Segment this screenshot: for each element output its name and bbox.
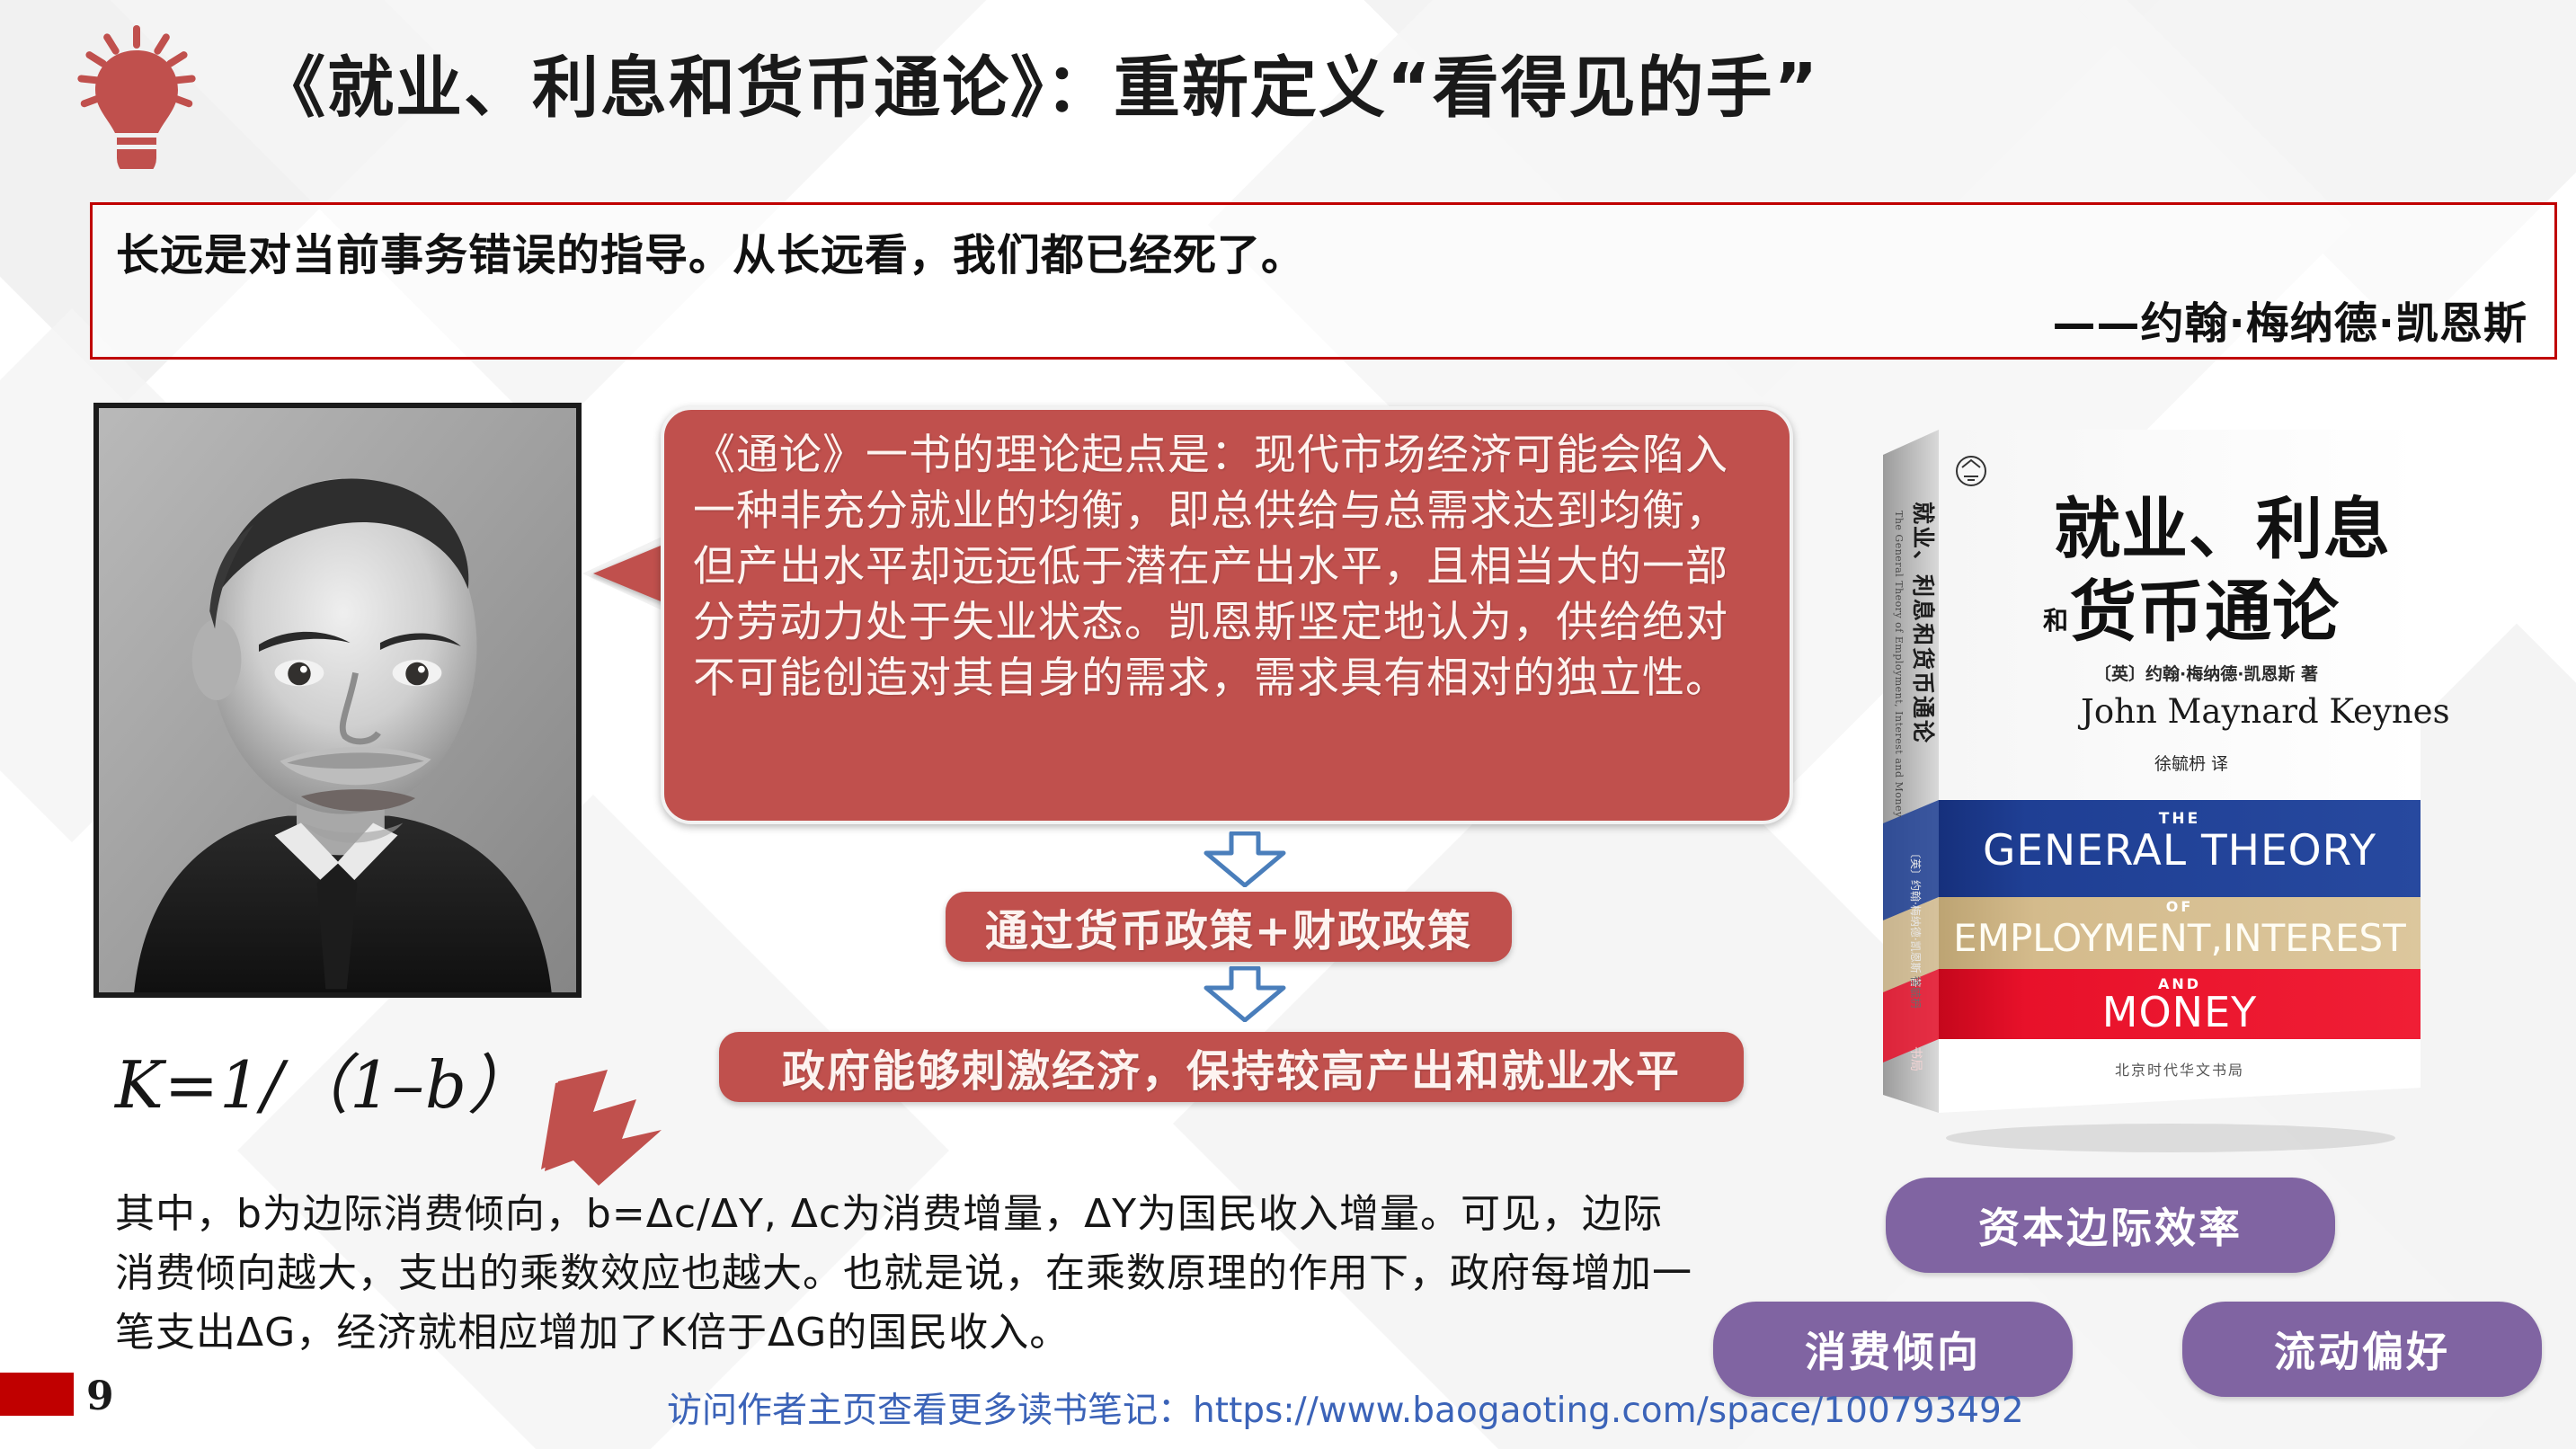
svg-text:EMPLOYMENT,INTEREST: EMPLOYMENT,INTEREST — [1953, 916, 2406, 960]
footer-accent-block — [0, 1373, 74, 1416]
svg-text:〔英〕约翰·梅纳德·凯恩斯 著: 〔英〕约翰·梅纳德·凯恩斯 著 — [1909, 848, 1923, 987]
theory-speech-bubble: 《通论》一书的理论起点是：现代市场经济可能会陷入一种非充分就业的均衡，即总供给与… — [661, 406, 1793, 824]
svg-text:THE: THE — [2159, 810, 2200, 828]
svg-text:John Maynard Keynes: John Maynard Keynes — [2077, 692, 2449, 731]
page-title: 《就业、利息和货币通论》：重新定义“看得见的手” — [259, 34, 1819, 130]
quote-text: 长远是对当前事务错误的指导。从长远看，我们都已经死了。 — [116, 219, 1305, 282]
svg-text:书局: 书局 — [1908, 1046, 1923, 1071]
svg-text:就业、利息和货币通论: 就业、利息和货币通论 — [1910, 502, 1936, 744]
lightbulb-icon — [56, 25, 218, 169]
svg-text:和: 和 — [2043, 606, 2068, 636]
concept-pill-capital-efficiency[interactable]: 资本边际效率 — [1886, 1178, 2335, 1273]
svg-text:OF: OF — [2166, 898, 2194, 915]
svg-text:The General Theory of Employme: The General Theory of Employment, Intere… — [1893, 511, 1905, 818]
down-arrow-icon-2 — [1197, 966, 1292, 1027]
bubble-text: 《通论》一书的理论起点是：现代市场经济可能会陷入一种非充分就业的均衡，即总供给与… — [693, 428, 1764, 707]
book-cover-image: 就业、利息和货币通论 The General Theory of Employm… — [1874, 394, 2449, 1158]
footer-link[interactable]: 访问作者主页查看更多读书笔记：https://www.baogaoting.co… — [667, 1382, 2024, 1433]
quote-box: 长远是对当前事务错误的指导。从长远看，我们都已经死了。 ——约翰·梅纳德·凯恩斯 — [90, 202, 2557, 360]
down-arrow-icon — [1197, 831, 1292, 892]
multiplier-formula: K=1/（1–b） — [115, 1032, 533, 1126]
svg-text:货币通论: 货币通论 — [2070, 573, 2340, 651]
slide-header: 《就业、利息和货币通论》：重新定义“看得见的手” — [0, 0, 2576, 180]
svg-text:就业、利息: 就业、利息 — [2054, 491, 2391, 568]
red-diagonal-arrow-icon — [529, 1065, 690, 1196]
explanation-paragraph: 其中，b为边际消费倾向，b=Δc/ΔY, Δc为消费增量，ΔY为国民收入增量。可… — [115, 1185, 1697, 1363]
svg-text:MONEY: MONEY — [2102, 988, 2257, 1036]
quote-attribution: ——约翰·梅纳德·凯恩斯 — [2053, 288, 2527, 351]
svg-text:GENERAL THEORY: GENERAL THEORY — [1983, 826, 2376, 876]
flow-step-2: 政府能够刺激经济，保持较高产出和就业水平 — [719, 1032, 1744, 1102]
page-number: 9 — [86, 1373, 114, 1419]
flow-step-1: 通过货币政策+财政政策 — [946, 892, 1512, 962]
keynes-portrait — [93, 403, 582, 998]
svg-text:〔英〕约翰·梅纳德·凯恩斯 著: 〔英〕约翰·梅纳德·凯恩斯 著 — [2094, 663, 2318, 684]
svg-text:徐毓枬: 徐毓枬 — [1909, 976, 1923, 1009]
concept-pill-liquidity-preference[interactable]: 流动偏好 — [2182, 1302, 2542, 1397]
svg-text:徐毓枬 译: 徐毓枬 译 — [2154, 754, 2228, 774]
svg-text:北京时代华文书局: 北京时代华文书局 — [2115, 1062, 2244, 1079]
